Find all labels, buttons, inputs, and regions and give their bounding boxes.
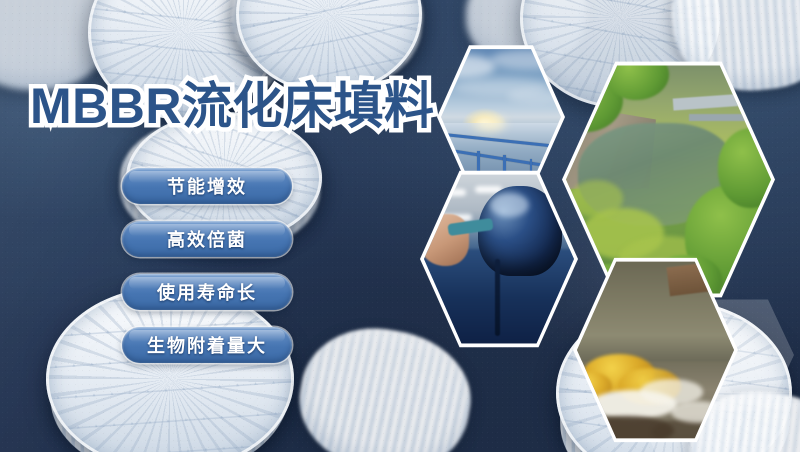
hex-photo-image — [577, 259, 734, 441]
page-title: MBBR流化床填料 — [30, 66, 434, 138]
feature-pill-label: 高效倍菌 — [167, 226, 247, 252]
hex-photo-image — [424, 172, 574, 346]
feature-pill-label: 节能增效 — [167, 173, 247, 199]
feature-pill-3[interactable]: 使用寿命长 — [122, 274, 292, 310]
hex-photo-aerated-foam-basin — [573, 255, 738, 445]
hex-photo-pouring-blue-liquid — [420, 168, 578, 350]
feature-pill-2[interactable]: 高效倍菌 — [122, 221, 292, 257]
feature-list: 节能增效 高效倍菌 使用寿命长 生物附着量大 — [122, 168, 292, 380]
feature-pill-label: 生物附着量大 — [147, 332, 267, 358]
feature-pill-1[interactable]: 节能增效 — [122, 168, 292, 204]
mbbr-product-banner: MBBR流化床填料 节能增效 高效倍菌 使用寿命长 生物附着量大 — [0, 0, 800, 452]
feature-pill-4[interactable]: 生物附着量大 — [122, 327, 292, 363]
feature-pill-label: 使用寿命长 — [157, 279, 257, 305]
